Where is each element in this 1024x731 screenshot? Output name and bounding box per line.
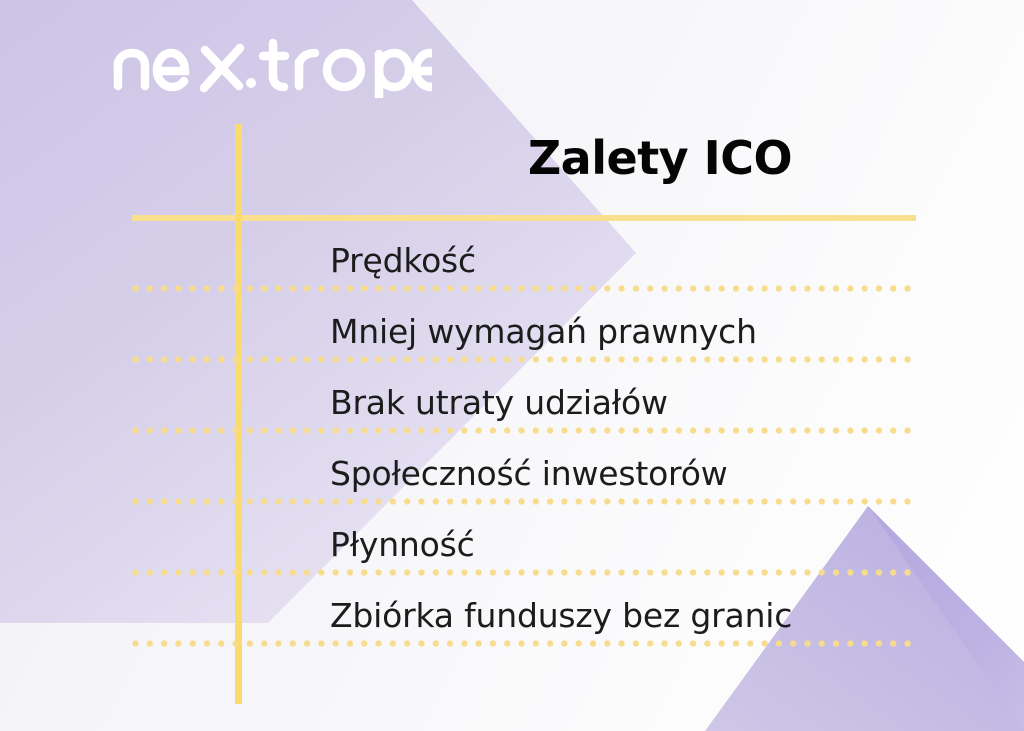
list-item-label: Mniej wymagań prawnych (330, 312, 757, 351)
dotted-separator (132, 427, 916, 434)
list-item: Płynność (0, 505, 1024, 576)
benefits-list: Prędkość Mniej wymagań prawnych Brak utr… (0, 221, 1024, 647)
list-item-label: Prędkość (330, 241, 476, 280)
list-item-label: Społeczność inwestorów (330, 454, 727, 493)
list-item-label: Brak utraty udziałów (330, 383, 668, 422)
list-item-label: Zbiórka funduszy bez granic (330, 596, 792, 635)
list-item: Zbiórka funduszy bez granic (0, 576, 1024, 647)
nextrope-logo[interactable]: nextrope (112, 36, 432, 98)
slide-canvas: nextrope Zalety ICO (0, 0, 1024, 731)
dotted-separator (132, 285, 916, 292)
dotted-separator (132, 569, 916, 576)
dotted-separator (132, 498, 916, 505)
page-title: Zalety ICO (330, 133, 990, 184)
dotted-separator (132, 640, 916, 647)
list-item: Brak utraty udziałów (0, 363, 1024, 434)
list-item-label: Płynność (330, 525, 475, 564)
list-item: Prędkość (0, 221, 1024, 292)
list-item: Mniej wymagań prawnych (0, 292, 1024, 363)
list-item: Społeczność inwestorów (0, 434, 1024, 505)
dotted-separator (132, 356, 916, 363)
